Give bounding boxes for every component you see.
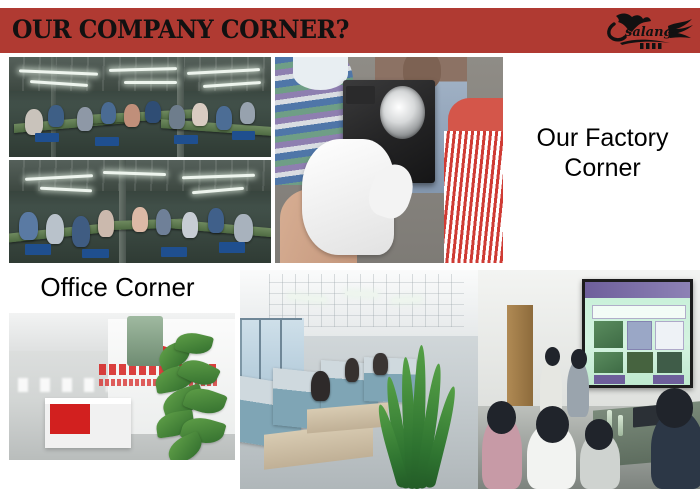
page-title: OUR COMPANY CORNER? [12,12,349,48]
factory-caption-line2: Corner [505,154,700,184]
projector-screen [582,279,693,389]
photo-factory-line-top [9,57,271,157]
factory-caption-line1: Our Factory [505,124,700,154]
photo-open-plan-office [240,270,478,489]
salange-horse-logo: salange [598,10,694,52]
photo-lamp-module-inspection [275,57,503,263]
photo-reception-lobby [9,313,235,460]
office-plant-icon [383,336,459,489]
factory-corner-caption: Our Factory Corner [505,124,700,183]
photo-meeting-room-presentation [478,270,700,489]
office-corner-caption: Office Corner [10,272,225,303]
reception-plant-icon [149,319,235,460]
page-header: OUR COMPANY CORNER? salange [0,8,700,53]
photo-factory-line-bottom [9,160,271,263]
